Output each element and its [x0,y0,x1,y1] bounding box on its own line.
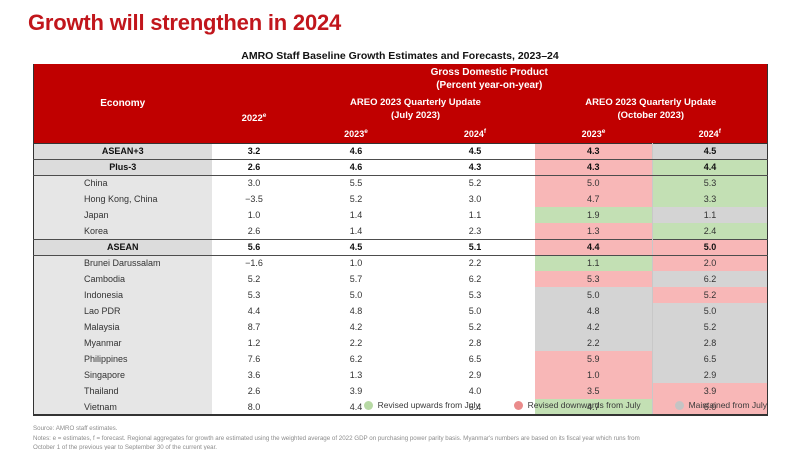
cell-economy: Philippines [34,351,212,367]
header-october-line1: AREO 2023 Quarterly Update [535,97,768,110]
cell-oct24: 2.4 [653,223,768,239]
cell-oct24: 2.8 [653,335,768,351]
header-gdp-line2: (Percent year-on-year) [212,79,768,93]
cell-jul24: 6.5 [416,351,535,367]
table-row: Plus-32.64.64.34.34.4 [34,159,768,175]
cell-economy: Malaysia [34,319,212,335]
cell-economy: ASEAN+3 [34,143,212,159]
table-row: Myanmar1.22.22.82.22.8 [34,335,768,351]
cell-economy: Brunei Darussalam [34,255,212,271]
cell-oct23: 4.7 [535,191,653,207]
table-row: Japan1.01.41.11.91.1 [34,207,768,223]
cell-y2022: 5.2 [212,271,297,287]
table-row: Hong Kong, China−3.55.23.04.73.3 [34,191,768,207]
cell-oct23: 1.9 [535,207,653,223]
table-row: Brunei Darussalam−1.61.02.21.12.0 [34,255,768,271]
cell-oct23: 5.3 [535,271,653,287]
cell-y2022: 1.0 [212,207,297,223]
header-july-2023-sup: e [364,128,368,135]
cell-jul24: 4.0 [416,383,535,399]
cell-economy: Myanmar [34,335,212,351]
cell-oct23: 2.2 [535,335,653,351]
cell-jul24: 5.1 [416,239,535,255]
cell-oct23: 5.0 [535,175,653,191]
header-gdp-line1: Gross Domestic Product [212,66,768,80]
cell-oct23: 4.8 [535,303,653,319]
table-row: Thailand2.63.94.03.53.9 [34,383,768,399]
table-row: Cambodia5.25.76.25.36.2 [34,271,768,287]
table-row: Indonesia5.35.05.35.05.2 [34,287,768,303]
cell-oct23: 5.9 [535,351,653,367]
cell-y2022: 3.6 [212,367,297,383]
cell-jul23: 2.2 [297,335,416,351]
cell-jul24: 5.3 [416,287,535,303]
forecast-table: Economy Gross Domestic Product (Percent … [33,64,768,416]
cell-oct24: 4.4 [653,159,768,175]
slide-root: Growth will strengthen in 2024 AMRO Staf… [0,0,800,450]
cell-oct24: 6.2 [653,271,768,287]
footnotes: Source: AMRO staff estimates. Notes: e =… [33,424,782,450]
header-2022-sup: e [263,112,267,119]
legend-dot-icon [514,401,523,410]
table-head: Economy Gross Domestic Product (Percent … [34,64,768,143]
cell-oct24: 5.0 [653,303,768,319]
cell-oct23: 4.3 [535,143,653,159]
table-body: ASEAN+33.24.64.54.34.5Plus-32.64.64.34.3… [34,143,768,415]
cell-economy: ASEAN [34,239,212,255]
legend-label: Maintained from July [689,400,767,410]
header-october-line2: (October 2023) [535,110,768,123]
cell-oct24: 1.1 [653,207,768,223]
cell-jul23: 5.2 [297,191,416,207]
cell-economy: China [34,175,212,191]
header-july-2024-label: 2024 [464,129,484,139]
cell-oct24: 5.3 [653,175,768,191]
header-july-2024: 2024f [416,126,535,143]
cell-oct24: 5.2 [653,319,768,335]
cell-jul23: 1.4 [297,207,416,223]
cell-y2022: 1.2 [212,335,297,351]
cell-jul24: 4.5 [416,143,535,159]
cell-jul23: 1.0 [297,255,416,271]
cell-jul23: 4.6 [297,143,416,159]
header-2022: 2022e [212,94,297,143]
header-economy-label: Economy [100,98,145,109]
page-title: Growth will strengthen in 2024 [28,10,341,36]
cell-y2022: 2.6 [212,223,297,239]
footnote-line2: October 1 of the previous year to Septem… [33,443,782,450]
cell-oct23: 4.2 [535,319,653,335]
cell-economy: Thailand [34,383,212,399]
legend-label: Revised downwards from July [528,400,641,410]
cell-jul23: 4.2 [297,319,416,335]
cell-oct24: 2.0 [653,255,768,271]
cell-jul23: 4.8 [297,303,416,319]
cell-oct23: 4.4 [535,239,653,255]
cell-y2022: 8.7 [212,319,297,335]
cell-oct24: 4.5 [653,143,768,159]
cell-y2022: 3.2 [212,143,297,159]
footnote-line1: Notes: e = estimates, f = forecast. Regi… [33,434,782,444]
legend-item: Revised upwards from July [364,400,480,410]
cell-jul24: 2.8 [416,335,535,351]
header-october-group: AREO 2023 Quarterly Update (October 2023… [535,94,768,126]
header-october-2023-sup: e [602,128,606,135]
table-row: Lao PDR4.44.85.04.85.0 [34,303,768,319]
cell-jul24: 2.3 [416,223,535,239]
legend: Revised upwards from JulyRevised downwar… [33,400,767,410]
cell-oct24: 5.0 [653,239,768,255]
legend-item: Revised downwards from July [514,400,641,410]
cell-economy: Hong Kong, China [34,191,212,207]
header-economy: Economy [34,64,212,143]
cell-jul24: 4.3 [416,159,535,175]
header-october-2024-sup: f [719,128,721,135]
legend-item: Maintained from July [675,400,767,410]
header-october-2024: 2024f [653,126,768,143]
legend-dot-icon [675,401,684,410]
cell-jul23: 5.7 [297,271,416,287]
table-row: Philippines7.66.26.55.96.5 [34,351,768,367]
header-october-2023: 2023e [535,126,653,143]
table-row: ASEAN5.64.55.14.45.0 [34,239,768,255]
table-row: ASEAN+33.24.64.54.34.5 [34,143,768,159]
header-gdp: Gross Domestic Product (Percent year-on-… [212,64,768,94]
table-row: Malaysia8.74.25.24.25.2 [34,319,768,335]
header-july-group: AREO 2023 Quarterly Update (July 2023) [297,94,535,126]
cell-jul24: 6.2 [416,271,535,287]
header-july-line1: AREO 2023 Quarterly Update [297,97,535,110]
cell-economy: Cambodia [34,271,212,287]
cell-oct24: 3.9 [653,383,768,399]
header-july-2023: 2023e [297,126,416,143]
cell-y2022: 2.6 [212,159,297,175]
cell-jul23: 3.9 [297,383,416,399]
cell-jul24: 1.1 [416,207,535,223]
cell-oct23: 4.3 [535,159,653,175]
table-row: Korea2.61.42.31.32.4 [34,223,768,239]
cell-oct24: 3.3 [653,191,768,207]
cell-jul24: 5.2 [416,175,535,191]
legend-label: Revised upwards from July [378,400,480,410]
cell-oct23: 5.0 [535,287,653,303]
forecast-table-container: Economy Gross Domestic Product (Percent … [33,64,767,416]
cell-economy: Indonesia [34,287,212,303]
cell-oct23: 1.1 [535,255,653,271]
header-july-2023-label: 2023 [344,129,364,139]
cell-jul24: 5.0 [416,303,535,319]
header-october-2024-label: 2024 [699,129,719,139]
cell-economy: Korea [34,223,212,239]
cell-economy: Plus-3 [34,159,212,175]
table-row: Singapore3.61.32.91.02.9 [34,367,768,383]
cell-y2022: 2.6 [212,383,297,399]
header-row-gdp: Economy Gross Domestic Product (Percent … [34,64,768,94]
cell-oct23: 1.3 [535,223,653,239]
cell-jul23: 1.4 [297,223,416,239]
cell-jul23: 5.0 [297,287,416,303]
cell-jul24: 2.2 [416,255,535,271]
cell-oct23: 3.5 [535,383,653,399]
header-july-2024-sup: f [484,128,486,135]
cell-jul23: 5.5 [297,175,416,191]
header-2022-label: 2022 [242,113,263,124]
cell-oct24: 5.2 [653,287,768,303]
cell-economy: Japan [34,207,212,223]
cell-oct23: 1.0 [535,367,653,383]
cell-jul23: 1.3 [297,367,416,383]
table-caption: AMRO Staff Baseline Growth Estimates and… [0,50,800,62]
cell-jul24: 3.0 [416,191,535,207]
cell-jul23: 4.5 [297,239,416,255]
cell-y2022: 7.6 [212,351,297,367]
cell-y2022: −3.5 [212,191,297,207]
cell-jul23: 6.2 [297,351,416,367]
header-october-2023-label: 2023 [582,129,602,139]
cell-y2022: 5.6 [212,239,297,255]
table-row: China3.05.55.25.05.3 [34,175,768,191]
legend-dot-icon [364,401,373,410]
cell-oct24: 2.9 [653,367,768,383]
cell-y2022: 4.4 [212,303,297,319]
cell-jul24: 5.2 [416,319,535,335]
cell-economy: Singapore [34,367,212,383]
footnote-source: Source: AMRO staff estimates. [33,424,782,434]
header-july-line2: (July 2023) [297,110,535,123]
cell-economy: Lao PDR [34,303,212,319]
cell-jul24: 2.9 [416,367,535,383]
cell-y2022: −1.6 [212,255,297,271]
cell-y2022: 3.0 [212,175,297,191]
cell-jul23: 4.6 [297,159,416,175]
cell-y2022: 5.3 [212,287,297,303]
cell-oct24: 6.5 [653,351,768,367]
